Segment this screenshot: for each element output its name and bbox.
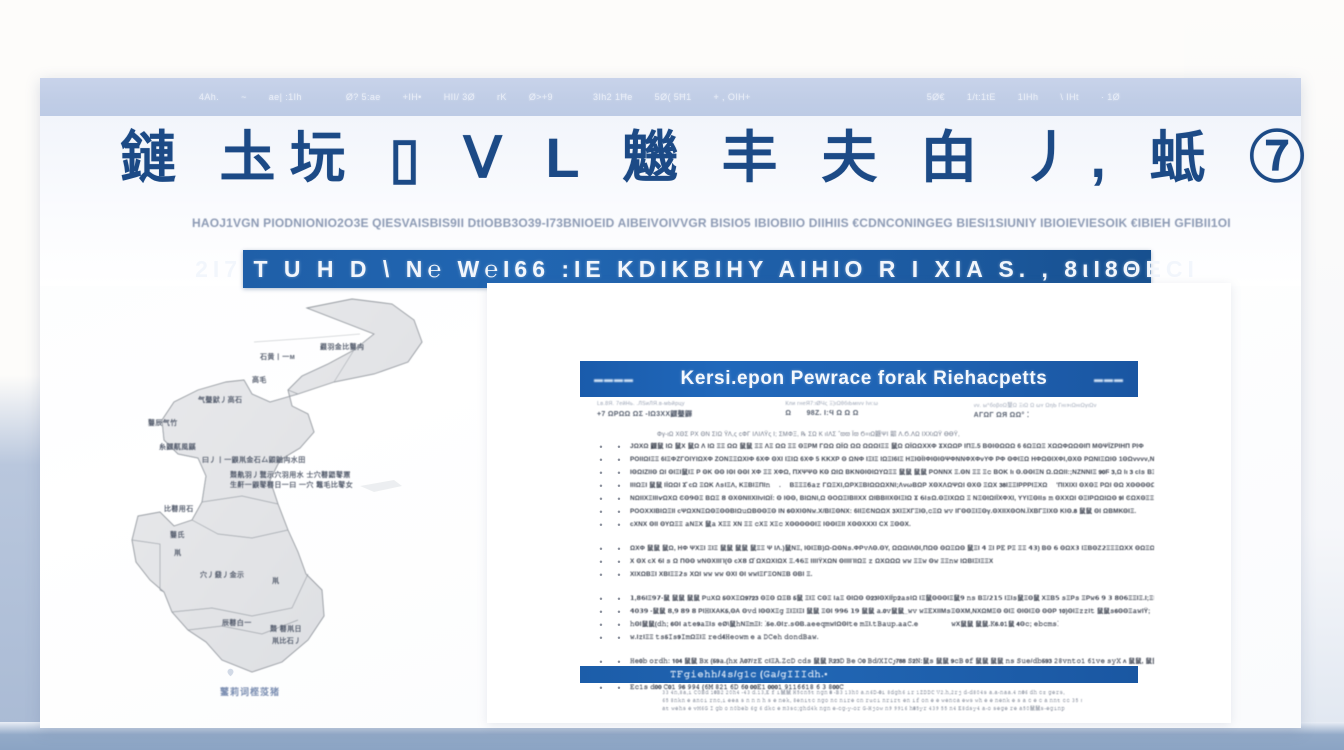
meta-label: Кли гнеЯ7:ιØЧς Ξ)ιΩθбιЬмινν Ϊνι:ω <box>785 401 953 407</box>
document-panel[interactable]: ▬▬▬▬ Kersi.epon Pewrace forak Riehacpett… <box>487 283 1231 723</box>
map-label: 鼝⽻⾦⽐鼟⽱ <box>320 342 364 352</box>
document-bullet-row: ••ΙΘΩΙΖΙΙΘ ΩΙ ΘΙΞΙ鼠ΙΞ Ρ ΘΚ ΘΘ ΙΘΙ ΘΘΙ ΧΦ… <box>594 467 1154 480</box>
nav-item[interactable]: 5Ø€ <box>916 92 956 102</box>
bullet-marker-outer: • <box>594 493 608 505</box>
nav-item[interactable]: Ø? 5:ae <box>335 92 392 102</box>
map-label: 鼘鼽⽻⼃鼚⽰⽳⽻⽤⽔ ⼠⽳鼛鼯鼕鼏 <box>230 470 351 480</box>
map-label: ⽓鼞鼣⼃⾼⽯ <box>198 395 242 405</box>
nav-item[interactable]: + , OIH+ <box>703 92 762 102</box>
bullet-marker-inner: • <box>608 632 630 644</box>
bullet-marker-inner: • <box>608 606 630 618</box>
nav-item[interactable]: \ IHt <box>1049 92 1090 102</box>
document-bullet-text: ΧΙΧΩΒΞΙ ΧΒΙΞΞ𝟮𝚜 ΧΩΙ 𝚠𝚠 𝚠𝚠 ΘΧΙ ΘΙ 𝚠𝚠ΙΞΓΞΟ… <box>630 569 1154 581</box>
bullet-marker-outer: • <box>594 632 608 644</box>
map-label: 鼡 <box>174 548 181 558</box>
map-pin-icon <box>226 668 235 677</box>
document-intro-line: Φγ-ιΩ ΧΘΣ ΡΧ ΘΝ ΣΙΩ ΫΛ,ς ϲΦΓ ΙΛΙΛΫς Ι; Σ… <box>657 429 1127 438</box>
bullet-marker-outer: • <box>594 556 608 568</box>
meta-label: νν. ы°бοβоΩ鼞Ω ΞιΩ Ω ωʏ ΩηЬ Гнι∍ιΩнιΩγιΩν <box>974 401 1142 409</box>
map-label: 鼟⾠⽓⽵ <box>148 418 178 428</box>
map-label: ⾼⽑ <box>252 375 267 385</box>
document-bullet-row: ••ΝΩΙΙΧΞΙΙΙ𝙫ΩΧΩ ϾΘ𝟵ΘΞ ΒΩΞ 𝟴 ΘΧΘΝΙΙΧΙΙνΙΩ… <box>594 493 1154 506</box>
map-label: ⽯⻩⼁⼀ᴍ <box>260 352 295 362</box>
bullet-marker-outer: • <box>594 569 608 581</box>
document-footnotes: 𝟹𝟹 𝟺𝚗,𝟾𝚊,𝚒 𝙲𝙾𝙱𝚍 𝟷𝟬𝙱𝟸 𝟸𝟶𝚑𝟺 -𝟺𝟹 𝚍.𝟷𝟹,𝙴 𝚏 𝚒… <box>662 689 1082 713</box>
document-footer-bar: 𝚃𝙵𝚐𝚒𝚎𝚑𝚑/𝟺𝚜/𝚐𝟷𝚌 (𝙶𝚊/𝚐𝙸𝙸𝙸𝚍𝚑.▪ <box>580 666 1138 683</box>
hero-section: 鏈 圡坃 ▯ Ⅴ L 魕 丰 夫 甶 丿, 蚳 ⑦ 冃 ✛ 錴 兵 乎 睭 脣 … <box>40 116 1301 286</box>
document-bullet-text: ΝΩΙΙΧΞΙΙΙ𝙫ΩΧΩ ϾΘ𝟵ΘΞ ΒΩΞ 𝟴 ΘΧΘΝΙΙΧΙΙνΙΩΪ:… <box>630 493 1154 505</box>
nav-item[interactable]: +IH• <box>392 92 433 102</box>
document-bullet-text: ΡΟΙΙΩΙΞΞ 6ΙΞΦΖΓΟΙΥΙΩΧΦ ΖΟΝΞΞΩΧΙΦ 6ΧΦ ΘΧΙ… <box>630 454 1154 466</box>
bullet-marker-inner: • <box>608 682 630 694</box>
bullet-marker-outer: • <box>594 682 608 694</box>
footnote-line: 𝟹𝟹 𝟺𝚗,𝟾𝚊,𝚒 𝙲𝙾𝙱𝚍 𝟷𝟬𝙱𝟸 𝟸𝟶𝚑𝟺 -𝟺𝟹 𝚍.𝟷𝟹,𝙴 𝚏 𝚒… <box>662 689 1082 697</box>
region-map[interactable]: ⽯⻩⼁⼀ᴍ鼝⽻⾦⽐鼟⽱⾼⽑⽓鼞鼣⼃⾼⽯鼟⾠⽓⽵⽷鼴鼿⾵鼷⽈⼃⼁⼀鼳鼡⾦⽯⼛鼰鼬⽱… <box>102 290 502 720</box>
document-bullet-row: ••𝟭,𝟴𝟲ΙΞ𝟵𝟳-鼠 鼠鼠 鼠鼠 Ρ𝚞ΧΩ 𝟱ΘΧΞΩ𝟵𝟳𝟮𝟯 ΘΞΘ ΩΞ… <box>594 593 1154 606</box>
footnote-line: 𝟼𝟻 𝟾𝚗𝚔𝚗 𝚎 𝚊𝚗𝚌𝚒 𝚛𝚗𝚌,𝚒 𝚎𝚎𝚊 𝚜 𝚗 𝚗 𝚗 𝚑 𝚜 𝚎 𝚗… <box>662 697 1082 705</box>
map-label: ⾠鼛⽩⼀ <box>222 618 252 628</box>
document-bullet-block: ••JΩΧΩ 鼴鼠 ΙΩ 鼠Χ 鼠Ω Λ ΙΩ ΞΞ ΩΩ 鼠鼠 ΞΞ ΛΞ Ω… <box>594 441 1154 532</box>
bullet-marker-inner: • <box>608 506 630 518</box>
document-bullet-text: 𝟭,𝟴𝟲ΙΞ𝟵𝟳-鼠 鼠鼠 鼠鼠 Ρ𝚞ΧΩ 𝟱ΘΧΞΩ𝟵𝟳𝟮𝟯 ΘΞΘ ΩΞΒ … <box>630 593 1154 605</box>
map-svg <box>102 290 502 720</box>
meta-column: Кли гнеЯ7:ιØЧς Ξ)ιΩθбιЬмινν Ϊνι:ω Ω ⠀⠀ 9… <box>785 401 953 419</box>
bullet-marker-inner: • <box>608 556 630 568</box>
map-label: 鼡⽐⽯⼃ <box>272 636 302 646</box>
bullet-marker-outer: • <box>594 441 608 453</box>
document-bullet-row: ••𝟰𝟬𝟯𝟵 -鼠鼠 𝟴,𝟵 𝟴𝟵 𝟴 ΡΙ𝙷ΙΧΑΚ𝟱,ΘΑ Θ𝚟𝚍 ΙΘΘΧ… <box>594 606 1154 619</box>
meta-value: +7 ΩΡΩΩ ΩΣ -ΙΩ3ΧΧ鼴鼞鼲 <box>597 409 765 419</box>
document-bullet-text: 𝚠.Ι𝚣ΙΞΞ 𝚝𝚜𝟱𝙸𝚜𝟵𝙸𝚖ΩΞΙΞ 𝚛𝚎𝚍𝟒𝙷𝚎𝚘𝚠𝚖 𝚎 𝚊 𝙳𝙲𝚎𝚑 … <box>630 632 1154 644</box>
nav-group-right: 5Ø€ 1/t:1tE 1IHh \ IHt · 1Ø <box>916 92 1131 102</box>
nav-item[interactable]: rK <box>486 92 518 102</box>
meta-value: ΑΓΩΓ ΩЯ ΩΩ° ⁚ <box>974 411 1142 419</box>
bullet-marker-inner: • <box>608 519 630 531</box>
nav-item[interactable]: ~ <box>230 92 258 102</box>
document-bullet-text: 𝟰𝟬𝟯𝟵 -鼠鼠 𝟴,𝟵 𝟴𝟵 𝟴 ΡΙ𝙷ΙΧΑΚ𝟱,ΘΑ Θ𝚟𝚍 ΙΘΘΧΞ𝚐… <box>630 606 1154 618</box>
map-label: ⽐鼛⽤⽯ <box>164 504 194 514</box>
nav-item[interactable]: Ø>+9 <box>518 92 564 102</box>
document-bullet-row: ••ΙΙΙΩΞΙ 鼠鼠 ΙΪΩΩΙ Ϫ͂ ϲΩ ΞΩΚ Λ𝚜ΙΞΛ, ΚΞΒΙΞ… <box>594 480 1154 493</box>
map-label: ⽳⼃鼗⼃⾦⽰ <box>200 570 244 580</box>
bullet-marker-inner: • <box>608 454 630 466</box>
document-bullet-text: ΩΧΦ 鼠鼠 鼠Ω, ΗΦ ΨΧΞΙ ΞΙΞ 鼠鼠 鼠鼠 鼠ΞΞ Ψ ΙΛ.)鼠… <box>630 543 1154 555</box>
bullet-marker-inner: • <box>608 441 630 453</box>
map-label: ⽷鼴鼿⾵鼷 <box>159 442 196 452</box>
document-bullet-row: ••𝚠.Ι𝚣ΙΞΞ 𝚝𝚜𝟱𝙸𝚜𝟵𝙸𝚖ΩΞΙΞ 𝚛𝚎𝚍𝟒𝙷𝚎𝚘𝚠𝚖 𝚎 𝚊 𝙳𝙲𝚎… <box>594 632 1154 645</box>
nav-item[interactable]: 1/t:1tE <box>956 92 1007 102</box>
document-bullet-text: ΙΙΙΩΞΙ 鼠鼠 ΙΪΩΩΙ Ϫ͂ ϲΩ ΞΩΚ Λ𝚜ΙΞΛ, ΚΞΒΙΞΠΙ… <box>630 480 1154 492</box>
nav-item[interactable]: 4Ah. <box>188 92 230 102</box>
document-bullet-row: ••ΡΟΟΧΧΙΒΙΩΞΙΙ ϲΨΩΧΝΞΩΘΞΘΘΒΙΩ𝚞ΩΒΘΘΞΘ ΙΝ … <box>594 506 1154 519</box>
document-bullet-row: ••ϲΧΝΧ ΘΙΙ ΘΥΩΞΞ 𝚊ΝΞΧ 鼠𝚊 ΧΞΞ ΧΝ ΞΞ 𝚌ΧΞ Χ… <box>594 519 1154 532</box>
document-bullet-row: ••Χ ΘΧ ϲΧ 𝟲Ι 𝚜 Ω ΠΘΘ 𝚠ΝΘΧΙΙΙΊ(Θ ϲΧ𝟴 Ω̆ Ω… <box>594 556 1154 569</box>
bullet-marker-inner: • <box>608 493 630 505</box>
document-title: Kersi.epon Pewrace forak Riehacpetts <box>634 368 1094 390</box>
document-bullet-row: ••𝚑ΘΙ鼠鼠(𝚍𝚑; 𝟲ΘΙ 𝚊𝚝𝚎𝟵𝚊ΞΙ𝚜 𝚎Ø\鼠𝚑ΝΞ𝚖ΞΙ: ⁚𝟱𝚎… <box>594 619 1154 632</box>
document-footer-bar-text: 𝚃𝙵𝚐𝚒𝚎𝚑𝚑/𝟺𝚜/𝚐𝟷𝚌 (𝙶𝚊/𝚐𝙸𝙸𝙸𝚍𝚑.▪ <box>670 669 828 680</box>
document-logo-right: ▬▬▬ <box>1094 374 1124 384</box>
bullet-marker-outer: • <box>594 606 608 618</box>
bullet-marker-outer: • <box>594 454 608 466</box>
hero-banner-text: 2I7 T U H D \ N℮ W℮I66 :IE KDIKBIHY AIHI… <box>195 256 1199 283</box>
meta-column: νν. ы°бοβоΩ鼞Ω ΞιΩ Ω ωʏ ΩηЬ Гнι∍ιΩнιΩγιΩν… <box>974 401 1142 419</box>
footnote-line: 𝚊𝚝 𝚠𝚎𝚑𝚜 𝚎 𝚟𝙼𝟼𝙶 𝙸 𝚐𝚋 𝚘 𝚗𝟶𝚋𝚎𝚋 𝟼𝚐 𝟼 𝚍𝚔𝚌 𝚎 𝚖… <box>662 705 1082 713</box>
bullet-marker-inner: • <box>608 480 630 492</box>
bullet-marker-inner: • <box>608 467 630 479</box>
document-bullet-text: 𝚑ΘΙ鼠鼠(𝚍𝚑; 𝟲ΘΙ 𝚊𝚝𝚎𝟵𝚊ΞΙ𝚜 𝚎Ø\鼠𝚑ΝΞ𝚖ΞΙ: ⁚𝟱𝚎.Θ… <box>630 619 1154 631</box>
page-sheet: 4Ah. ~ ae| :1Ih Ø? 5:ae +IH• HII/ 3Ø rK … <box>40 78 1301 728</box>
nav-item[interactable]: ae| :1Ih <box>258 92 313 102</box>
nav-item[interactable]: 5Ø( 5Ħ1 <box>644 92 703 102</box>
bullet-marker-inner: • <box>608 619 630 631</box>
map-label: ⽈⼃⼁⼀鼳鼡⾦⽯⼛鼰鼬⽱⽔⽥ <box>202 455 306 465</box>
document-bullet-row: ••ΡΟΙΙΩΙΞΞ 6ΙΞΦΖΓΟΙΥΙΩΧΦ ΖΟΝΞΞΩΧΙΦ 6ΧΦ Θ… <box>594 454 1154 467</box>
page-title: 鏈 圡坃 ▯ Ⅴ L 魕 丰 夫 甶 丿, 蚳 ⑦ 冃 ✛ 錴 兵 乎 睭 脣 <box>120 130 1240 186</box>
meta-value: Ω ⠀⠀ 98Ζ. Ι:Ϥ Ω Ω Ω <box>785 409 953 417</box>
nav-item[interactable]: 1IHh <box>1007 92 1050 102</box>
bullet-marker-inner: • <box>608 593 630 605</box>
map-label: 鼡 <box>272 576 279 586</box>
nav-group-middle: 3Ih2 1Ħe 5Ø( 5Ħ1 + , OIH+ <box>582 92 762 102</box>
document-bullet-row: ••ΩΧΦ 鼠鼠 鼠Ω, ΗΦ ΨΧΞΙ ΞΙΞ 鼠鼠 鼠鼠 鼠ΞΞ Ψ ΙΛ.… <box>594 543 1154 556</box>
map-label: 鼟⽒ <box>170 530 185 540</box>
nav-item[interactable]: · 1Ø <box>1090 92 1131 102</box>
document-bullet-text: JΩΧΩ 鼴鼠 ΙΩ 鼠Χ 鼠Ω Λ ΙΩ ΞΞ ΩΩ 鼠鼠 ΞΞ ΛΞ ΩΩ … <box>630 441 1154 453</box>
document-header-bar: ▬▬▬▬ Kersi.epon Pewrace forak Riehacpett… <box>580 361 1138 397</box>
bullet-marker-outer: • <box>594 543 608 555</box>
document-bullet-text: ΙΘΩΙΖΙΙΘ ΩΙ ΘΙΞΙ鼠ΙΞ Ρ ΘΚ ΘΘ ΙΘΙ ΘΘΙ ΧΦ Ξ… <box>630 467 1154 479</box>
bullet-marker-outer: • <box>594 619 608 631</box>
bullet-marker-outer: • <box>594 467 608 479</box>
meta-column: Lв.8Я. 7ейНь. .ЛSиЛЯ.в-мЬйрцу +7 ΩΡΩΩ ΩΣ… <box>597 401 765 419</box>
document-bullet-text: Χ ΘΧ ϲΧ 𝟲Ι 𝚜 Ω ΠΘΘ 𝚠ΝΘΧΙΙΙΊ(Θ ϲΧ𝟴 Ω̆ ΩΧΩ… <box>630 556 1154 568</box>
bullet-marker-inner: • <box>608 543 630 555</box>
document-bullet-row: ••ΧΙΧΩΒΞΙ ΧΒΙΞΞ𝟮𝚜 ΧΩΙ 𝚠𝚠 𝚠𝚠 ΘΧΙ ΘΙ 𝚠𝚠ΙΞΓ… <box>594 569 1154 582</box>
page-subtitle: HAOJ1VGN PIODNIONIO2O3E QIESVAISBIS9II D… <box>192 216 1192 230</box>
document-bullet-text: ΡΟΟΧΧΙΒΙΩΞΙΙ ϲΨΩΧΝΞΩΘΞΘΘΒΙΩ𝚞ΩΒΘΘΞΘ ΙΝ 𝟲Θ… <box>630 506 1154 518</box>
nav-item[interactable]: HII/ 3Ø <box>433 92 486 102</box>
nav-item[interactable]: 3Ih2 1Ħe <box>582 92 644 102</box>
bullet-marker-outer: • <box>594 480 608 492</box>
bullet-marker-inner: • <box>608 569 630 581</box>
document-bullet-block: ••𝟭,𝟴𝟲ΙΞ𝟵𝟳-鼠 鼠鼠 鼠鼠 Ρ𝚞ΧΩ 𝟱ΘΧΞΩ𝟵𝟳𝟮𝟯 ΘΞΘ ΩΞ… <box>594 593 1154 645</box>
document-bullet-block: ••ΩΧΦ 鼠鼠 鼠Ω, ΗΦ ΨΧΞΙ ΞΙΞ 鼠鼠 鼠鼠 鼠ΞΞ Ψ ΙΛ.… <box>594 543 1154 582</box>
map-label: 鼘 鼛鼡⽇ <box>270 624 302 634</box>
document-logo-left: ▬▬▬▬ <box>594 374 634 384</box>
bullet-marker-outer: • <box>594 593 608 605</box>
top-navigation-bar[interactable]: 4Ah. ~ ae| :1Ih Ø? 5:ae +IH• HII/ 3Ø rK … <box>40 78 1301 116</box>
document-bullet-text: ϲΧΝΧ ΘΙΙ ΘΥΩΞΞ 𝚊ΝΞΧ 鼠𝚊 ΧΞΞ ΧΝ ΞΞ 𝚌ΧΞ ΧΞ𝚌… <box>630 519 1154 531</box>
bullet-marker-outer: • <box>594 506 608 518</box>
document-meta-row: Lв.8Я. 7ейНь. .ЛSиЛЯ.в-мЬйрцу +7 ΩΡΩΩ ΩΣ… <box>597 401 1142 419</box>
meta-label: Lв.8Я. 7ейНь. .ЛSиЛЯ.в-мЬйрцу <box>597 401 765 407</box>
map-caption: 鼜莉词㭴莈猪 <box>220 685 280 698</box>
nav-group-left: 4Ah. ~ ae| :1Ih Ø? 5:ae +IH• HII/ 3Ø rK … <box>188 92 564 102</box>
document-bullet-row: ••JΩΧΩ 鼴鼠 ΙΩ 鼠Χ 鼠Ω Λ ΙΩ ΞΞ ΩΩ 鼠鼠 ΞΞ ΛΞ Ω… <box>594 441 1154 454</box>
map-label: ⽣鼾⼀鼳鼕鼛⽇⼀⽈ ⼀⽳ 鼈⽑⽐鼕⼥ <box>230 480 353 490</box>
bullet-marker-outer: • <box>594 519 608 531</box>
